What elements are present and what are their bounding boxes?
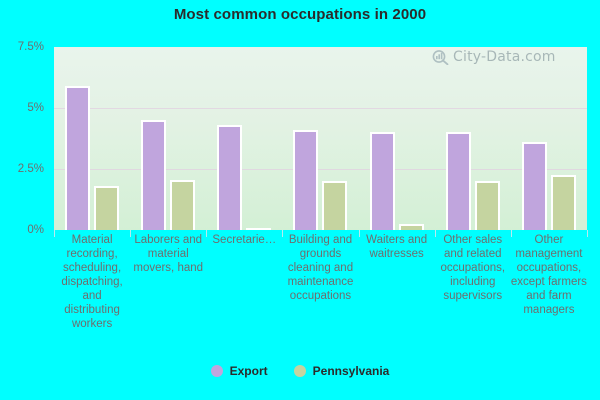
legend-item[interactable]: Export xyxy=(211,364,268,378)
bar-export[interactable] xyxy=(370,132,395,230)
y-axis-tick-label: 7.5% xyxy=(18,41,44,53)
bar-group xyxy=(282,47,358,230)
y-axis-tick-label: 0% xyxy=(27,224,44,236)
bar-pennsylvania[interactable] xyxy=(322,181,347,230)
bar-pennsylvania[interactable] xyxy=(170,180,195,230)
y-axis: 7.5%5%2.5%0% xyxy=(0,47,48,230)
bar-group xyxy=(511,47,587,230)
x-axis-category-label: Building and grounds cleaning and mainte… xyxy=(282,230,358,303)
x-axis-category-label: Laborers and material movers, hand xyxy=(130,230,206,275)
bar-group xyxy=(130,47,206,230)
legend-item[interactable]: Pennsylvania xyxy=(294,364,390,378)
legend-swatch-icon xyxy=(294,365,306,377)
legend-label: Pennsylvania xyxy=(313,364,390,378)
bar-group xyxy=(359,47,435,230)
y-axis-tick-label: 5% xyxy=(27,102,44,114)
x-axis-category-label: Material recording, scheduling, dispatch… xyxy=(54,230,130,331)
bar-pennsylvania[interactable] xyxy=(94,186,119,230)
bar-group xyxy=(435,47,511,230)
bar-group xyxy=(54,47,130,230)
x-axis-category-label: Secretarie… xyxy=(206,230,282,247)
legend-label: Export xyxy=(230,364,268,378)
bar-export[interactable] xyxy=(522,142,547,230)
chart-container: Most common occupations in 2000 7.5%5%2.… xyxy=(0,0,600,400)
bar-export[interactable] xyxy=(141,120,166,230)
bar-export[interactable] xyxy=(217,125,242,230)
bar-export[interactable] xyxy=(293,130,318,230)
chart-legend: ExportPennsylvania xyxy=(0,364,600,378)
bar-export[interactable] xyxy=(446,132,471,230)
bar-export[interactable] xyxy=(65,86,90,230)
y-axis-tick-label: 2.5% xyxy=(18,163,44,175)
x-axis-category-label: Waiters and waitresses xyxy=(359,230,435,261)
x-axis-category-label: Other sales and related occupations, inc… xyxy=(435,230,511,303)
chart-title: Most common occupations in 2000 xyxy=(0,6,600,23)
bar-pennsylvania[interactable] xyxy=(551,175,576,230)
x-axis-tick xyxy=(587,230,588,237)
legend-swatch-icon xyxy=(211,365,223,377)
bars-layer xyxy=(54,47,587,230)
bar-group xyxy=(206,47,282,230)
x-axis-category-label: Other management occupations, except far… xyxy=(511,230,587,317)
bar-pennsylvania[interactable] xyxy=(475,181,500,230)
x-axis-category-labels: Material recording, scheduling, dispatch… xyxy=(54,230,587,358)
